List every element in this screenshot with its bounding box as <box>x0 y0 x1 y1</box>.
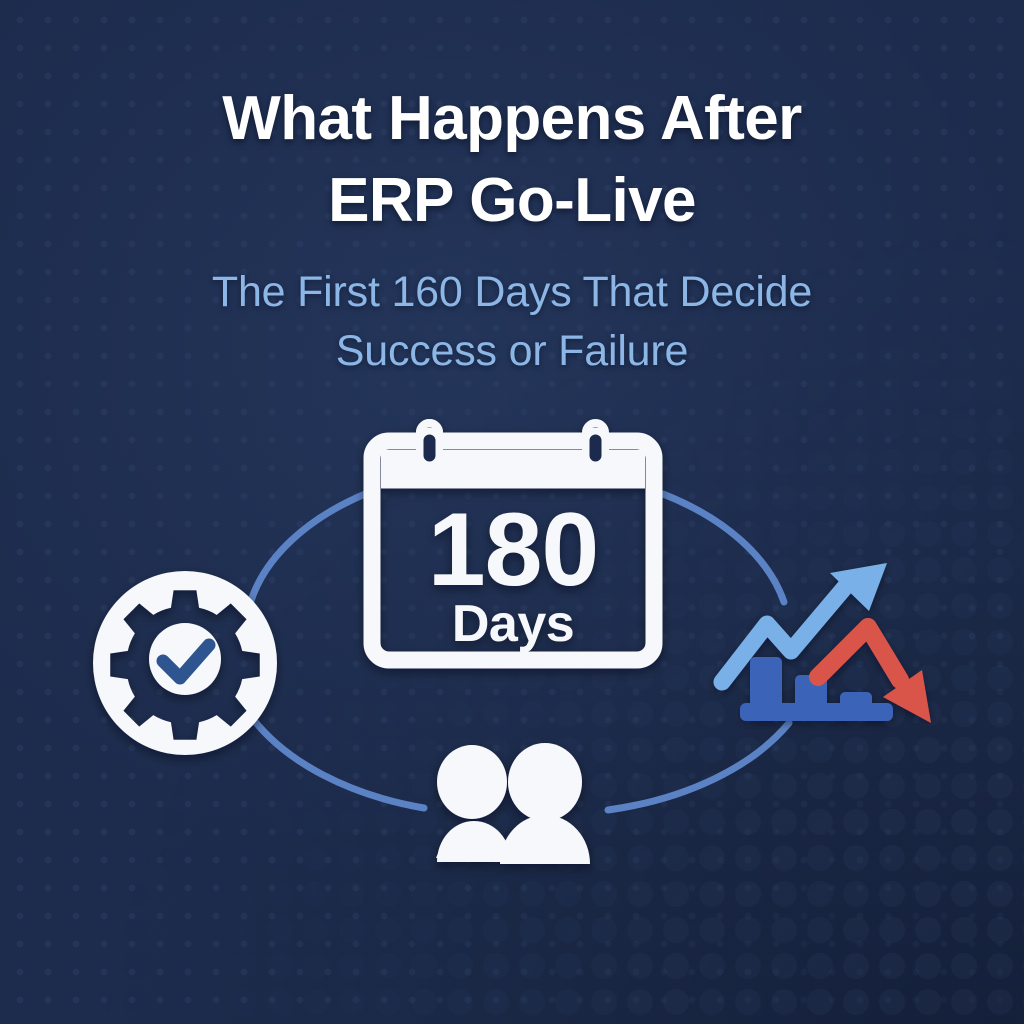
arc-chart-to-people <box>608 723 789 810</box>
arc-gear-to-calendar <box>250 492 370 604</box>
subtitle-line-2: Success or Failure <box>0 322 1024 381</box>
chart-baseline <box>740 703 893 721</box>
arc-calendar-to-chart <box>663 494 784 602</box>
page-subtitle: The First 160 Days That Decide Success o… <box>0 263 1024 381</box>
calendar-big-number: 180 <box>428 492 599 608</box>
page-title: What Happens After ERP Go-Live <box>0 78 1024 243</box>
calendar-unit-label: Days <box>452 595 574 653</box>
person-left <box>436 745 511 862</box>
chart-arrows-icon <box>722 563 931 723</box>
gear-check-icon <box>93 571 277 755</box>
subtitle-line-1: The First 160 Days That Decide <box>0 263 1024 322</box>
arc-people-to-gear <box>253 719 424 808</box>
title-line-1: What Happens After <box>0 78 1024 160</box>
person-right <box>500 743 590 864</box>
headline-block: What Happens After ERP Go-Live The First… <box>0 78 1024 381</box>
people-icon <box>436 743 590 864</box>
infographic-poster: What Happens After ERP Go-Live The First… <box>0 0 1024 1024</box>
calendar-icon: 180 Days <box>372 423 654 660</box>
title-line-2: ERP Go-Live <box>0 160 1024 242</box>
